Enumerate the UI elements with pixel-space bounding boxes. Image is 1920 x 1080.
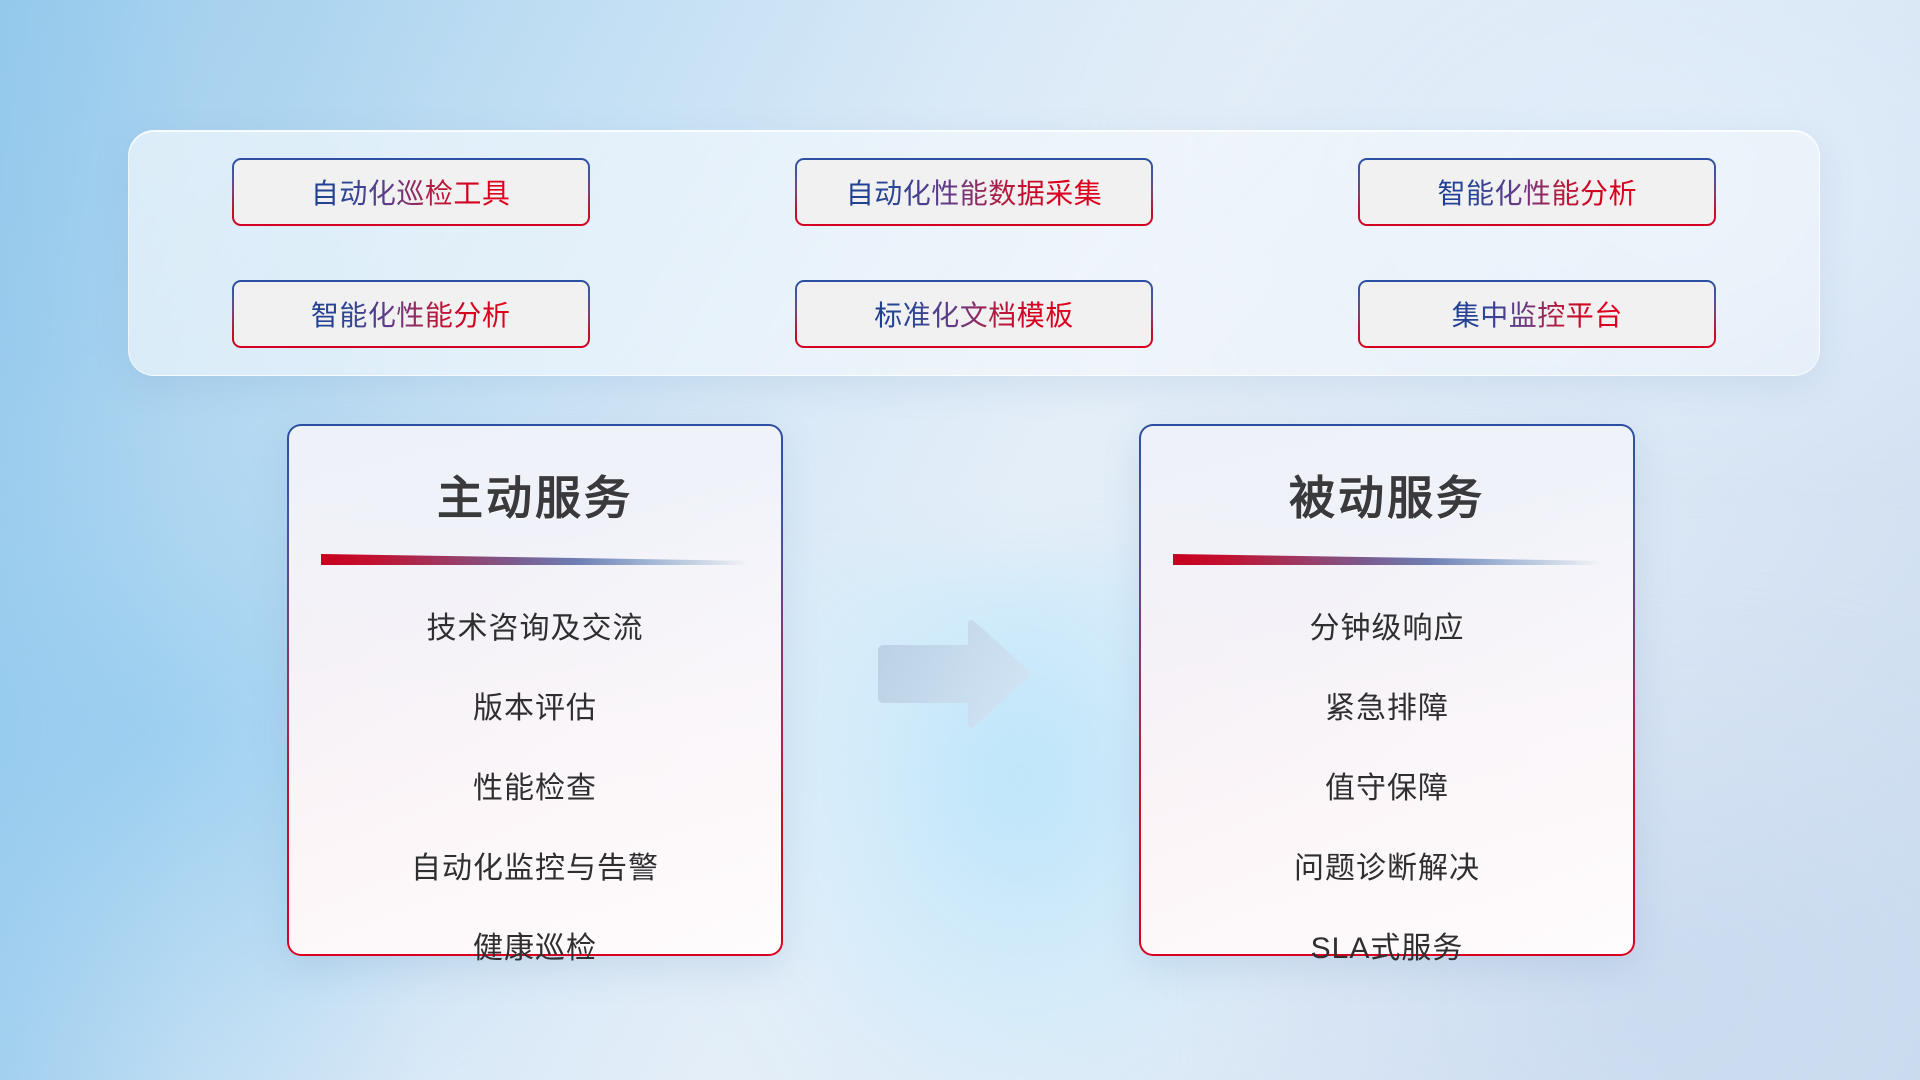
service-list-active: 技术咨询及交流 版本评估 性能检查 自动化监控与告警 健康巡检: [289, 603, 781, 967]
card-divider-active: [321, 554, 749, 565]
slide-canvas: 自动化巡检工具 自动化性能数据采集 智能化性能分析 智能化性能分析 标准化文档模…: [0, 0, 1920, 1080]
card-divider-passive: [1173, 554, 1601, 565]
list-item: 版本评估: [289, 683, 781, 727]
capability-pill-grid: 自动化巡检工具 自动化性能数据采集 智能化性能分析 智能化性能分析 标准化文档模…: [129, 131, 1819, 375]
list-item: 值守保障: [1141, 763, 1633, 807]
list-item: 问题诊断解决: [1141, 843, 1633, 887]
list-item: 技术咨询及交流: [289, 603, 781, 647]
list-item: 紧急排障: [1141, 683, 1633, 727]
card-title-passive: 被动服务: [1141, 462, 1633, 528]
capability-pill-label: 智能化性能分析: [1438, 172, 1638, 212]
list-item: 自动化监控与告警: [289, 843, 781, 887]
right-arrow-icon: [872, 615, 1032, 733]
capability-pill-1[interactable]: 自动化巡检工具: [232, 158, 590, 226]
capability-pill-6[interactable]: 集中监控平台: [1358, 280, 1716, 348]
capability-pill-label: 自动化巡检工具: [311, 172, 511, 212]
capability-panel: 自动化巡检工具 自动化性能数据采集 智能化性能分析 智能化性能分析 标准化文档模…: [128, 130, 1820, 376]
capability-pill-label: 标准化文档模板: [874, 294, 1074, 334]
list-item: 分钟级响应: [1141, 603, 1633, 647]
list-item: 性能检查: [289, 763, 781, 807]
capability-pill-label: 自动化性能数据采集: [846, 172, 1103, 212]
capability-pill-3[interactable]: 智能化性能分析: [1358, 158, 1716, 226]
card-divider-bar: [1173, 554, 1601, 565]
capability-pill-label: 集中监控平台: [1452, 294, 1623, 334]
capability-pill-4[interactable]: 智能化性能分析: [232, 280, 590, 348]
card-divider-bar: [321, 554, 749, 565]
capability-pill-2[interactable]: 自动化性能数据采集: [795, 158, 1153, 226]
list-item: SLA式服务: [1141, 923, 1633, 967]
capability-pill-label: 智能化性能分析: [311, 294, 511, 334]
service-card-passive: 被动服务 分钟级响应 紧急排障 值守保障 问题诊断解决 SLA式服务: [1139, 424, 1635, 956]
card-title-active: 主动服务: [289, 462, 781, 528]
capability-pill-5[interactable]: 标准化文档模板: [795, 280, 1153, 348]
list-item: 健康巡检: [289, 923, 781, 967]
service-list-passive: 分钟级响应 紧急排障 值守保障 问题诊断解决 SLA式服务: [1141, 603, 1633, 967]
service-card-active: 主动服务 技术咨询及交流 版本评估 性能检查 自动化监控与告警 健康巡检: [287, 424, 783, 956]
